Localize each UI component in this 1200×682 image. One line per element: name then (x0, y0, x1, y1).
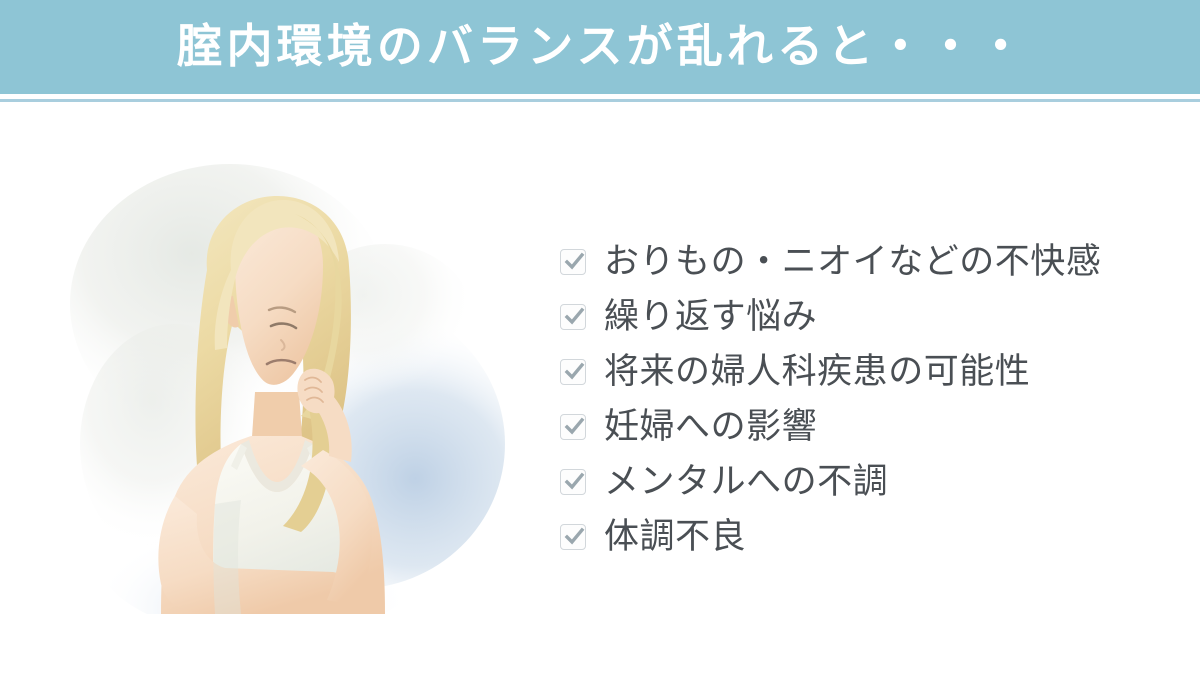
page-title: 腟内環境のバランスが乱れると・・・ (172, 24, 1028, 70)
list-item-label: おりもの・ニオイなどの不快感 (604, 244, 1101, 279)
checkbox-checked-icon[interactable] (560, 414, 586, 440)
checkbox-checked-icon[interactable] (560, 249, 586, 275)
slide-root: 腟内環境のバランスが乱れると・・・ (0, 0, 1200, 682)
list-item-label: 繰り返す悩み (604, 299, 817, 334)
checkbox-checked-icon[interactable] (560, 304, 586, 330)
list-item-label: 将来の婦人科疾患の可能性 (604, 354, 1030, 389)
header-band: 腟内環境のバランスが乱れると・・・ (0, 0, 1200, 94)
checkbox-checked-icon[interactable] (560, 469, 586, 495)
list-item[interactable]: メンタルへの不調 (560, 454, 1160, 509)
list-item-label: メンタルへの不調 (604, 464, 888, 499)
list-item-label: 体調不良 (604, 519, 746, 554)
worried-woman-watercolor-illustration (55, 144, 505, 614)
list-item[interactable]: 繰り返す悩み (560, 289, 1160, 344)
list-item[interactable]: 将来の婦人科疾患の可能性 (560, 344, 1160, 399)
list-item[interactable]: おりもの・ニオイなどの不快感 (560, 234, 1160, 289)
checkbox-checked-icon[interactable] (560, 359, 586, 385)
list-item[interactable]: 妊婦への影響 (560, 399, 1160, 454)
content-area: おりもの・ニオイなどの不快感 繰り返す悩み 将来の婦人科疾患の可能性 (0, 102, 1200, 682)
list-item-label: 妊婦への影響 (604, 409, 817, 444)
list-item[interactable]: 体調不良 (560, 509, 1160, 564)
symptom-checklist: おりもの・ニオイなどの不快感 繰り返す悩み 将来の婦人科疾患の可能性 (560, 234, 1160, 564)
checkbox-checked-icon[interactable] (560, 524, 586, 550)
